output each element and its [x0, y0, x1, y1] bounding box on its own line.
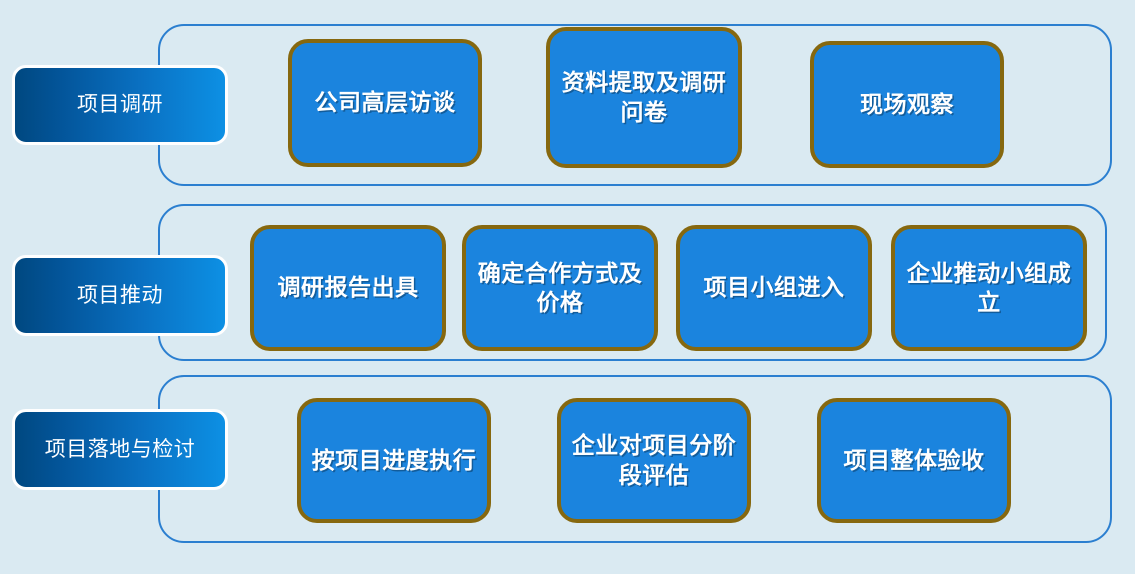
- stage-label-2[interactable]: 项目推动: [12, 255, 228, 336]
- task-label: 调研报告出具: [278, 273, 419, 302]
- task-label: 项目整体验收: [844, 446, 985, 475]
- task-label: 企业推动小组成立: [905, 259, 1073, 318]
- task-label: 资料提取及调研问卷: [560, 68, 728, 127]
- task-box-1-2[interactable]: 资料提取及调研问卷: [546, 27, 742, 168]
- task-box-2-1[interactable]: 调研报告出具: [250, 225, 446, 351]
- task-label: 项目小组进入: [704, 273, 845, 302]
- task-box-3-2[interactable]: 企业对项目分阶段评估: [557, 398, 751, 523]
- task-box-3-3[interactable]: 项目整体验收: [817, 398, 1011, 523]
- task-box-2-2[interactable]: 确定合作方式及价格: [462, 225, 658, 351]
- task-label: 企业对项目分阶段评估: [571, 431, 737, 490]
- task-box-2-4[interactable]: 企业推动小组成立: [891, 225, 1087, 351]
- task-label: 确定合作方式及价格: [476, 259, 644, 318]
- stage-label-1[interactable]: 项目调研: [12, 65, 228, 145]
- process-flow-diagram: 项目调研 公司高层访谈 资料提取及调研问卷 现场观察 项目推动 调研报告出具 确…: [0, 0, 1135, 574]
- task-box-1-3[interactable]: 现场观察: [810, 41, 1004, 168]
- task-label: 公司高层访谈: [315, 88, 456, 117]
- task-box-3-1[interactable]: 按项目进度执行: [297, 398, 491, 523]
- task-label: 现场观察: [860, 90, 954, 119]
- task-label: 按项目进度执行: [312, 446, 477, 475]
- task-box-1-1[interactable]: 公司高层访谈: [288, 39, 482, 167]
- task-box-2-3[interactable]: 项目小组进入: [676, 225, 872, 351]
- stage-label-3[interactable]: 项目落地与检讨: [12, 409, 228, 490]
